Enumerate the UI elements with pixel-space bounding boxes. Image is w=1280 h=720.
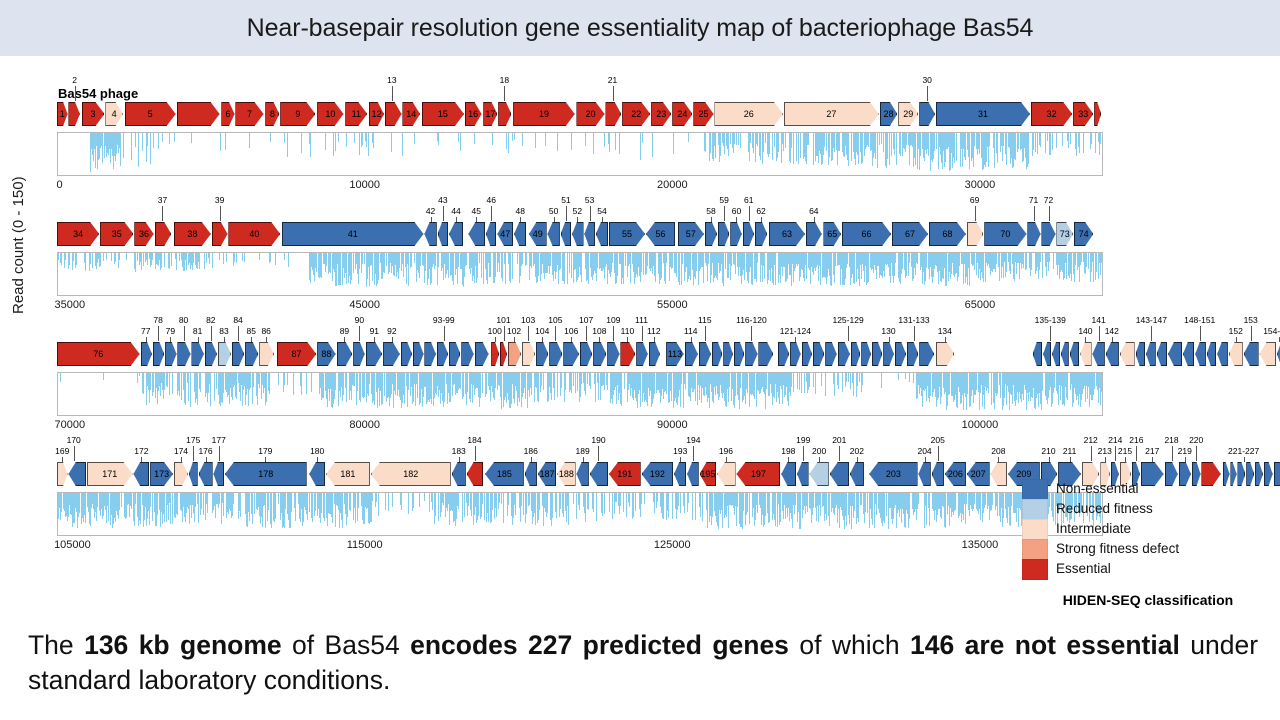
gene-arrow-177[interactable] <box>213 462 224 486</box>
gene-arrow-48[interactable] <box>514 222 526 246</box>
gene-label-221-227: 221-227 <box>1228 447 1259 456</box>
label-leader-line <box>749 206 750 221</box>
gene-label-114: 114 <box>684 327 698 336</box>
gene-label-142: 142 <box>1105 327 1119 336</box>
gene-arrow-171[interactable]: 171 <box>87 462 133 486</box>
label-leader-line <box>927 86 928 101</box>
gene-arrow-71[interactable] <box>1027 222 1040 246</box>
gene-arrow-134[interactable] <box>936 342 954 366</box>
gene-arrow-197[interactable]: 197 <box>736 462 780 486</box>
gene-label-210: 210 <box>1041 447 1055 456</box>
gene-arrow-77[interactable] <box>141 342 152 366</box>
gene-arrow-95[interactable] <box>424 342 435 366</box>
gene-arrow-125[interactable] <box>825 342 836 366</box>
gene-label-101: 101 <box>496 316 510 325</box>
gene-arrow-137[interactable] <box>1052 342 1060 366</box>
gene-arrow-170[interactable] <box>68 462 86 486</box>
gene-arrow-199[interactable] <box>797 462 808 486</box>
gene-arrow-173[interactable]: 173 <box>150 462 173 486</box>
gene-arrow-131[interactable] <box>895 342 906 366</box>
gene-arrow-33[interactable]: 33 <box>1073 102 1093 126</box>
label-leader-line <box>803 446 804 461</box>
legend-swatch <box>1022 519 1048 540</box>
gene-arrow-201[interactable] <box>830 462 849 486</box>
gene-label-108: 108 <box>592 327 606 336</box>
gene-arrow-180[interactable] <box>309 462 325 486</box>
gene-arrow-26[interactable]: 26 <box>714 102 783 126</box>
gene-arrow-148[interactable] <box>1183 342 1194 366</box>
gene-label-201: 201 <box>832 436 846 445</box>
gene-number-labels: 3739424344454648505152535458596061626469… <box>57 196 1103 224</box>
gene-arrow-13[interactable] <box>385 102 402 126</box>
gene-arrow-81[interactable] <box>191 342 203 366</box>
gene-arrow-11[interactable]: 11 <box>345 102 367 126</box>
gene-arrow-187[interactable]: 187 <box>538 462 556 486</box>
gene-arrow-141[interactable] <box>1092 342 1104 366</box>
gene-arrow-92[interactable] <box>383 342 400 366</box>
gene-arrow-27[interactable]: 27 <box>784 102 879 126</box>
gene-label-104: 104 <box>535 327 549 336</box>
gene-arrow-22[interactable]: 22 <box>622 102 650 126</box>
gene-arrow-60[interactable] <box>730 222 741 246</box>
gene-arrow-37[interactable] <box>155 222 172 246</box>
gene-arrow-175[interactable] <box>189 462 198 486</box>
gene-arrow-79[interactable] <box>165 342 176 366</box>
gene-label-211: 211 <box>1063 447 1077 456</box>
gene-arrow-8[interactable]: 8 <box>265 102 279 126</box>
gene-arrow-69[interactable] <box>967 222 984 246</box>
gene-label-184: 184 <box>467 436 481 445</box>
gene-arrow-57[interactable]: 57 <box>678 222 704 246</box>
gene-arrow-154[interactable] <box>1259 342 1276 366</box>
gene-arrow-189[interactable] <box>576 462 588 486</box>
label-leader-line <box>555 326 556 341</box>
gene-arrow-186[interactable] <box>525 462 537 486</box>
gene-arrow-83[interactable] <box>218 342 231 366</box>
gene-arrow-87[interactable]: 87 <box>277 342 317 366</box>
gene-arrow-105[interactable] <box>549 342 562 366</box>
gene-arrow-140[interactable] <box>1080 342 1091 366</box>
gene-arrow-58[interactable] <box>705 222 717 246</box>
gene-arrow-1[interactable]: 1 <box>57 102 68 126</box>
caption-text: of Bas54 <box>282 630 410 660</box>
gene-arrow-52[interactable] <box>572 222 583 246</box>
gene-arrow-172[interactable] <box>133 462 149 486</box>
label-leader-line <box>566 206 567 221</box>
gene-arrow-50[interactable] <box>547 222 559 246</box>
label-leader-line <box>1112 337 1113 342</box>
gene-arrow-10[interactable]: 10 <box>317 102 343 126</box>
label-leader-line <box>586 326 587 341</box>
gene-arrow-29[interactable]: 29 <box>898 102 918 126</box>
gene-arrow-188[interactable]: 188 <box>557 462 575 486</box>
axis-tick-0: 0 <box>57 179 63 191</box>
gene-arrow-66[interactable]: 66 <box>842 222 891 246</box>
legend-swatch <box>1022 539 1048 560</box>
gene-arrow-113[interactable]: 113 <box>666 342 684 366</box>
gene-arrow-label: 197 <box>751 470 766 479</box>
gene-arrow-204[interactable] <box>918 462 930 486</box>
gene-arrow-97[interactable] <box>449 342 460 366</box>
gene-arrow-63[interactable]: 63 <box>769 222 805 246</box>
gene-arrow-94[interactable] <box>413 342 424 366</box>
gene-label-58: 58 <box>706 207 715 216</box>
gene-arrow-19[interactable]: 19 <box>513 102 575 126</box>
gene-arrow-6[interactable]: 6 <box>221 102 234 126</box>
gene-label-92: 92 <box>387 327 396 336</box>
gene-label-143-147: 143-147 <box>1136 316 1167 325</box>
gene-number-labels: 777879808182838485868990919293-991001011… <box>57 316 1103 344</box>
gene-arrow-104[interactable] <box>536 342 548 366</box>
gene-arrow-47[interactable]: 47 <box>497 222 513 246</box>
gene-label-100: 100 <box>488 327 502 336</box>
gene-arrow-181[interactable]: 181 <box>326 462 370 486</box>
gene-arrow-178[interactable]: 178 <box>225 462 307 486</box>
gene-arrow-127[interactable] <box>851 342 861 366</box>
gene-arrow-114[interactable] <box>685 342 698 366</box>
gene-arrow-183[interactable] <box>452 462 466 486</box>
gene-arrow-4[interactable]: 4 <box>105 102 123 126</box>
gene-label-2: 2 <box>72 76 77 85</box>
gene-arrow-34[interactable]: 34 <box>57 222 99 246</box>
gene-arrow-98[interactable] <box>461 342 473 366</box>
gene-arrow-43[interactable] <box>438 222 449 246</box>
gene-arrow-73[interactable]: 73 <box>1056 222 1073 246</box>
gene-arrow-53[interactable] <box>584 222 595 246</box>
gene-arrow-112[interactable] <box>649 342 660 366</box>
gene-label-186: 186 <box>524 447 538 456</box>
label-leader-line <box>1050 326 1051 341</box>
gene-arrow-120[interactable] <box>758 342 773 366</box>
gene-arrow-70[interactable]: 70 <box>984 222 1026 246</box>
gene-arrow-107[interactable] <box>580 342 592 366</box>
gene-arrow-62[interactable] <box>755 222 767 246</box>
gene-arrow-40[interactable]: 40 <box>228 222 280 246</box>
gene-arrow-152[interactable] <box>1229 342 1243 366</box>
gene-arrow-49[interactable]: 49 <box>529 222 547 246</box>
gene-arrow-192[interactable]: 192 <box>642 462 674 486</box>
gene-arrow-74[interactable]: 74 <box>1074 222 1093 246</box>
gene-arrow-124[interactable] <box>813 342 824 366</box>
gene-arrow-56[interactable]: 56 <box>646 222 675 246</box>
gene-arrow-208[interactable] <box>990 462 1007 486</box>
gene-arrow-51[interactable] <box>561 222 572 246</box>
label-leader-line <box>590 206 591 221</box>
gene-arrow-41[interactable]: 41 <box>282 222 424 246</box>
gene-arrow-82[interactable] <box>205 342 217 366</box>
gene-arrow-196[interactable] <box>717 462 735 486</box>
gene-arrow-9[interactable]: 9 <box>280 102 315 126</box>
gene-arrow-108[interactable] <box>593 342 606 366</box>
gene-arrow-139[interactable] <box>1070 342 1080 366</box>
gene-arrow-198[interactable] <box>781 462 796 486</box>
gene-arrow-24[interactable]: 24 <box>672 102 692 126</box>
label-leader-line <box>975 206 976 221</box>
gene-arrow-14[interactable]: 14 <box>402 102 420 126</box>
gene-label-212: 212 <box>1084 436 1098 445</box>
label-leader-line <box>751 326 752 341</box>
gene-arrow-91[interactable] <box>366 342 383 366</box>
gene-label-140: 140 <box>1078 327 1092 336</box>
gene-arrow-label: 22 <box>631 110 641 119</box>
gene-arrow-117[interactable] <box>723 342 733 366</box>
gene-arrow-label: 4 <box>112 110 117 119</box>
gene-arrow-128[interactable] <box>861 342 871 366</box>
gene-arrow-136[interactable] <box>1043 342 1051 366</box>
gene-arrow-label: 19 <box>539 110 549 119</box>
gene-arrow-126[interactable] <box>838 342 850 366</box>
gene-arrow[interactable] <box>1094 102 1101 126</box>
gene-arrow-label: 73 <box>1060 230 1070 239</box>
gene-arrow-111[interactable] <box>636 342 647 366</box>
gene-arrow-153[interactable] <box>1244 342 1259 366</box>
gene-arrow-2[interactable] <box>68 102 79 126</box>
gene-arrow-138[interactable] <box>1061 342 1069 366</box>
gene-arrow-122[interactable] <box>790 342 801 366</box>
label-leader-line <box>75 86 76 101</box>
gene-arrow-129[interactable] <box>872 342 883 366</box>
gene-arrow-116[interactable] <box>712 342 723 366</box>
gene-arrow-31[interactable]: 31 <box>936 102 1030 126</box>
gene-arrow-59[interactable] <box>718 222 729 246</box>
gene-arrow-32[interactable]: 32 <box>1031 102 1072 126</box>
gene-arrow-106[interactable] <box>563 342 579 366</box>
gene-arrow-label: 181 <box>340 470 355 479</box>
label-leader-line <box>211 326 212 341</box>
legend-swatch <box>1022 559 1048 580</box>
gene-arrow-130[interactable] <box>883 342 894 366</box>
gene-arrow-207[interactable]: 207 <box>967 462 990 486</box>
gene-arrow-109[interactable] <box>607 342 619 366</box>
gene-label-116-120: 116-120 <box>736 316 767 325</box>
gene-arrow-132[interactable] <box>907 342 918 366</box>
gene-arrow-123[interactable] <box>802 342 813 366</box>
gene-label-86: 86 <box>261 327 270 336</box>
gene-arrow-46[interactable] <box>486 222 497 246</box>
gene-arrow-89[interactable] <box>337 342 353 366</box>
gene-arrow-150[interactable] <box>1207 342 1217 366</box>
axis-tick-65000: 65000 <box>965 299 996 311</box>
gene-arrow-36[interactable]: 36 <box>134 222 153 246</box>
gene-arrow-142[interactable] <box>1106 342 1119 366</box>
gene-arrow-102[interactable] <box>508 342 521 366</box>
label-leader-line <box>392 86 393 101</box>
gene-arrow-86[interactable] <box>259 342 274 366</box>
gene-arrow-lane: 1345678910111214151617192022232425262728… <box>57 102 1103 126</box>
gene-arrow-label: 27 <box>826 110 836 119</box>
gene-arrow-7[interactable]: 7 <box>235 102 263 126</box>
gene-arrow-88[interactable]: 88 <box>317 342 335 366</box>
gene-arrow-194[interactable] <box>687 462 698 486</box>
gene-arrow-55[interactable]: 55 <box>609 222 645 246</box>
gene-arrow-133[interactable] <box>919 342 934 366</box>
label-leader-line <box>1200 326 1201 341</box>
gene-label-189: 189 <box>576 447 590 456</box>
gene-arrow-64[interactable] <box>806 222 822 246</box>
gene-arrow-200[interactable] <box>809 462 828 486</box>
gene-arrow-23[interactable]: 23 <box>651 102 671 126</box>
gene-arrow-68[interactable]: 68 <box>929 222 966 246</box>
gene-arrow-label: 5 <box>148 110 153 119</box>
gene-arrow-17[interactable]: 17 <box>483 102 497 126</box>
gene-arrow-30[interactable] <box>919 102 935 126</box>
gene-arrow-121[interactable] <box>778 342 789 366</box>
gene-arrow-174[interactable] <box>174 462 188 486</box>
gene-arrow-45[interactable] <box>468 222 485 246</box>
gene-arrow-label: 33 <box>1078 110 1088 119</box>
gene-arrow-76[interactable]: 76 <box>57 342 140 366</box>
gene-arrow-151[interactable] <box>1217 342 1228 366</box>
gene-arrow-label: 12 <box>371 110 381 119</box>
label-leader-line <box>1136 446 1137 461</box>
gene-arrow-label: 49 <box>533 230 543 239</box>
gene-arrow-147[interactable] <box>1168 342 1182 366</box>
gene-arrow-110[interactable] <box>620 342 635 366</box>
gene-arrow-38[interactable]: 38 <box>174 222 211 246</box>
gene-label-121-124: 121-124 <box>780 327 811 336</box>
caption: The 136 kb genome of Bas54 encodes 227 p… <box>28 628 1258 698</box>
gene-label-170: 170 <box>67 436 81 445</box>
gene-arrow-145[interactable] <box>1146 342 1156 366</box>
gene-label-217: 217 <box>1145 447 1159 456</box>
gene-arrow-label: 8 <box>270 110 275 119</box>
gene-arrow-18[interactable] <box>498 102 511 126</box>
gene-arrow-label: 70 <box>1000 230 1010 239</box>
gene-label-110: 110 <box>621 327 635 336</box>
gene-arrow[interactable] <box>177 102 220 126</box>
gene-label-13: 13 <box>387 76 396 85</box>
gene-arrow-28[interactable]: 28 <box>880 102 898 126</box>
gene-arrow-202[interactable] <box>850 462 864 486</box>
gene-label-196: 196 <box>719 447 733 456</box>
gene-arrow-191[interactable]: 191 <box>609 462 641 486</box>
gene-arrow-12[interactable]: 12 <box>369 102 384 126</box>
caption-emphasis: 146 are not essential <box>910 630 1180 660</box>
axis-tick-135000: 135000 <box>962 539 999 551</box>
gene-arrow-101[interactable] <box>500 342 507 366</box>
legend-item-intermediate: Intermediate <box>1022 519 1272 539</box>
gene-arrow-15[interactable]: 15 <box>422 102 464 126</box>
label-leader-line <box>938 446 939 461</box>
gene-arrow-99[interactable] <box>475 342 489 366</box>
gene-arrow-16[interactable]: 16 <box>465 102 482 126</box>
gene-label-82: 82 <box>206 316 215 325</box>
legend-label: Non-essential <box>1056 482 1139 496</box>
gene-arrow-label: 113 <box>668 350 682 359</box>
gene-label-180: 180 <box>310 447 324 456</box>
gene-arrow-20[interactable]: 20 <box>576 102 604 126</box>
gene-arrow-190[interactable] <box>590 462 608 486</box>
gene-arrow-65[interactable]: 65 <box>823 222 841 246</box>
gene-label-152: 152 <box>1229 327 1243 336</box>
gene-arrow-149[interactable] <box>1195 342 1206 366</box>
gene-arrow-206[interactable]: 206 <box>945 462 966 486</box>
gene-arrow-67[interactable]: 67 <box>892 222 928 246</box>
gene-arrow-119[interactable] <box>745 342 757 366</box>
gene-arrow-184[interactable] <box>467 462 484 486</box>
gene-label-21: 21 <box>608 76 617 85</box>
gene-arrow-90[interactable] <box>353 342 364 366</box>
gene-arrow-182[interactable]: 182 <box>371 462 451 486</box>
gene-arrow-label: 23 <box>656 110 666 119</box>
gene-arrow-78[interactable] <box>153 342 164 366</box>
gene-arrow-label: 88 <box>321 350 331 359</box>
gene-arrow-96[interactable] <box>437 342 448 366</box>
gene-arrow-195[interactable]: 195 <box>700 462 717 486</box>
gene-label-52: 52 <box>573 207 582 216</box>
gene-arrow-label: 9 <box>295 110 300 119</box>
gene-arrow-118[interactable] <box>734 342 745 366</box>
gene-arrow-42[interactable] <box>424 222 436 246</box>
gene-arrow-193[interactable] <box>674 462 686 486</box>
gene-arrow-100[interactable] <box>491 342 499 366</box>
gene-label-48: 48 <box>515 207 524 216</box>
gene-arrow-169[interactable] <box>57 462 68 486</box>
gene-arrow-label: 29 <box>903 110 913 119</box>
gene-arrow-label: 17 <box>485 110 495 119</box>
gene-arrow-93[interactable] <box>401 342 412 366</box>
gene-label-208: 208 <box>991 447 1005 456</box>
gene-label-46: 46 <box>486 196 495 205</box>
gene-arrow-176[interactable] <box>199 462 213 486</box>
gene-arrow-143[interactable] <box>1120 342 1135 366</box>
gene-arrow-205[interactable] <box>932 462 944 486</box>
label-leader-line <box>705 326 706 341</box>
gene-arrow-5[interactable]: 5 <box>125 102 176 126</box>
page-title: Near-basepair resolution gene essentiali… <box>247 14 1034 43</box>
gene-arrow-label: 65 <box>827 230 837 239</box>
gene-arrow-135[interactable] <box>1033 342 1043 366</box>
gene-arrow-85[interactable] <box>245 342 258 366</box>
gene-label-53: 53 <box>585 196 594 205</box>
gene-arrow-84[interactable] <box>232 342 244 366</box>
gene-arrow-61[interactable] <box>743 222 754 246</box>
gene-label-39: 39 <box>215 196 224 205</box>
gene-arrow-39[interactable] <box>212 222 228 246</box>
gene-arrow-228[interactable] <box>1274 462 1280 486</box>
gene-arrow-72[interactable] <box>1041 222 1055 246</box>
gene-arrow-44[interactable] <box>449 222 463 246</box>
caption-text: of which <box>789 630 910 660</box>
gene-arrow-3[interactable]: 3 <box>82 102 105 126</box>
gene-arrow-185[interactable]: 185 <box>485 462 524 486</box>
gene-arrow-21[interactable] <box>605 102 621 126</box>
gene-arrow-25[interactable]: 25 <box>693 102 713 126</box>
gene-label-219: 219 <box>1178 447 1192 456</box>
label-leader-line <box>219 446 220 461</box>
read-coverage-plot-2 <box>57 252 1103 296</box>
label-leader-line <box>1099 326 1100 341</box>
gene-arrow-label: 41 <box>348 230 358 239</box>
gene-arrow-80[interactable] <box>177 342 190 366</box>
gene-label-202: 202 <box>850 447 864 456</box>
gene-arrow-144[interactable] <box>1136 342 1146 366</box>
gene-arrow-35[interactable]: 35 <box>100 222 133 246</box>
gene-arrow-146[interactable] <box>1157 342 1168 366</box>
gene-arrow-54[interactable] <box>596 222 608 246</box>
axis-tick-115000: 115000 <box>347 539 383 551</box>
gene-arrow-203[interactable]: 203 <box>869 462 917 486</box>
gene-label-50: 50 <box>549 207 558 216</box>
gene-arrow-103[interactable] <box>522 342 535 366</box>
axis-tick-55000: 55000 <box>657 299 688 311</box>
gene-label-199: 199 <box>796 436 810 445</box>
label-leader-line <box>613 86 614 101</box>
gene-label-112: 112 <box>647 327 661 336</box>
gene-label-190: 190 <box>591 436 605 445</box>
legend-item-non-essential: Non-essential <box>1022 479 1272 499</box>
gene-arrow-115[interactable] <box>699 342 711 366</box>
